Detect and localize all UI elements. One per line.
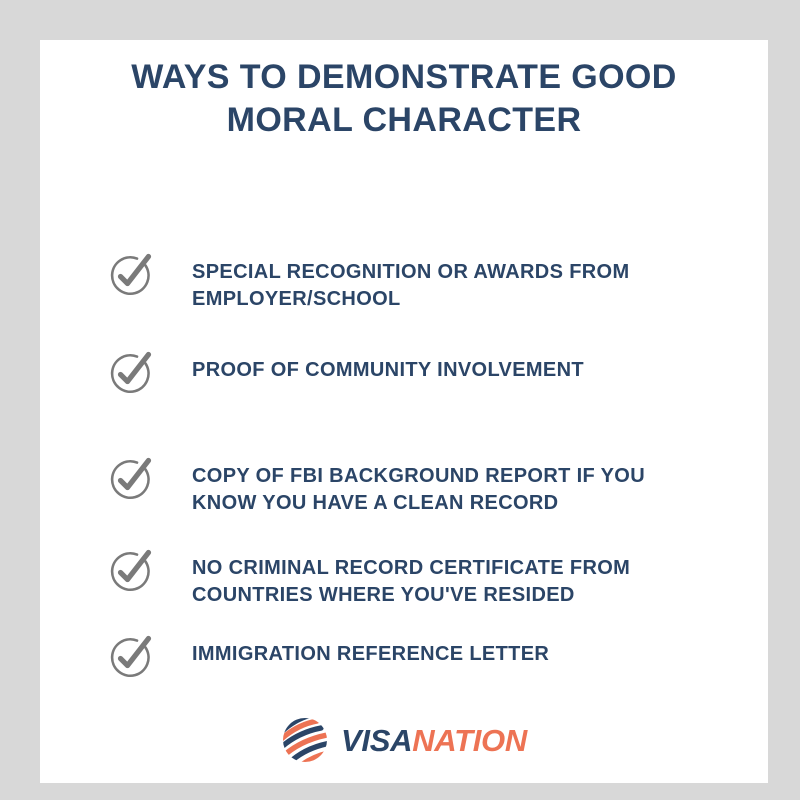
check-circle-icon	[104, 546, 156, 598]
visanation-globe-icon	[281, 716, 329, 764]
check-circle-icon	[104, 454, 156, 506]
brand-logo: VISANATION	[40, 716, 768, 764]
logo-word-visa: VISA	[341, 723, 412, 758]
list-item-label: SPECIAL RECOGNITION OR AWARDS FROM EMPLO…	[192, 259, 712, 313]
list-item-label: PROOF OF COMMUNITY INVOLVEMENT	[192, 357, 584, 384]
list-item-label: COPY OF FBI BACKGROUND REPORT IF YOU KNO…	[192, 463, 712, 517]
check-circle-icon	[104, 632, 156, 684]
check-circle-icon	[104, 348, 156, 400]
logo-wordmark: VISANATION	[341, 725, 527, 756]
page-title: WAYS TO DEMONSTRATE GOOD MORAL CHARACTER	[40, 56, 768, 142]
logo-word-nation: NATION	[412, 723, 527, 758]
page-title-line-1: WAYS TO DEMONSTRATE GOOD	[40, 56, 768, 99]
list-item-label: IMMIGRATION REFERENCE LETTER	[192, 641, 549, 668]
list-item: COPY OF FBI BACKGROUND REPORT IF YOU KNO…	[104, 458, 744, 517]
list-item-label: NO CRIMINAL RECORD CERTIFICATE FROM COUN…	[192, 555, 712, 609]
page-title-line-2: MORAL CHARACTER	[40, 99, 768, 142]
check-circle-icon	[104, 250, 156, 302]
content-card: WAYS TO DEMONSTRATE GOOD MORAL CHARACTER…	[40, 40, 768, 783]
infographic-page: WAYS TO DEMONSTRATE GOOD MORAL CHARACTER…	[0, 0, 800, 800]
list-item: SPECIAL RECOGNITION OR AWARDS FROM EMPLO…	[104, 254, 744, 313]
list-item: IMMIGRATION REFERENCE LETTER	[104, 636, 744, 684]
list-item: NO CRIMINAL RECORD CERTIFICATE FROM COUN…	[104, 550, 744, 609]
list-item: PROOF OF COMMUNITY INVOLVEMENT	[104, 352, 744, 400]
